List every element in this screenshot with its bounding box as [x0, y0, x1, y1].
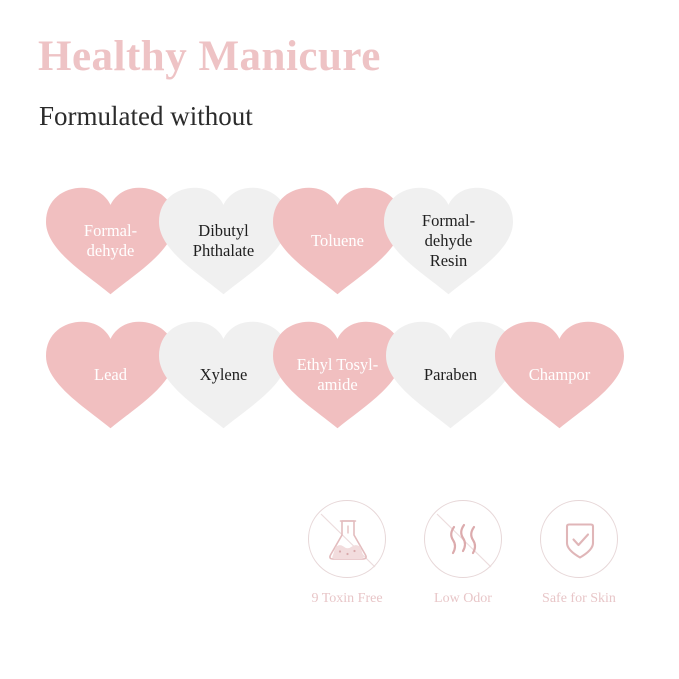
badge-safe-for-skin: Safe for Skin: [535, 500, 623, 607]
page-title: Healthy Manicure: [38, 34, 381, 79]
badge-9-toxin-free: 9 Toxin Free: [303, 500, 391, 607]
badge-circle: [308, 500, 386, 578]
ingredient-heart: Champor: [487, 316, 632, 434]
badge-label: Safe for Skin: [535, 591, 623, 607]
ingredient-row-2: LeadXyleneEthyl Tosyl-amideParabenChampo…: [0, 316, 679, 436]
heart-shape-icon: [487, 316, 632, 434]
flask-no-toxin-icon: [309, 501, 387, 579]
badge-label: Low Odor: [419, 591, 507, 607]
steam-low-odor-icon: [425, 501, 503, 579]
page-subtitle: Formulated without: [39, 102, 253, 132]
ingredient-heart: Formal-dehydeResin: [376, 182, 521, 300]
ingredient-row-1: Formal-dehydeDibutylPhthalateTolueneForm…: [0, 182, 679, 302]
heart-shape-icon: [376, 182, 521, 300]
badge-circle: [540, 500, 618, 578]
badge-circle: [424, 500, 502, 578]
badge-label: 9 Toxin Free: [303, 591, 391, 607]
healthy-manicure-infographic: Healthy Manicure Formulated without Form…: [0, 0, 679, 679]
feature-badges: 9 Toxin Free Low Odor Safe for Skin: [303, 500, 648, 618]
badge-low-odor: Low Odor: [419, 500, 507, 607]
shield-check-icon: [541, 501, 619, 579]
